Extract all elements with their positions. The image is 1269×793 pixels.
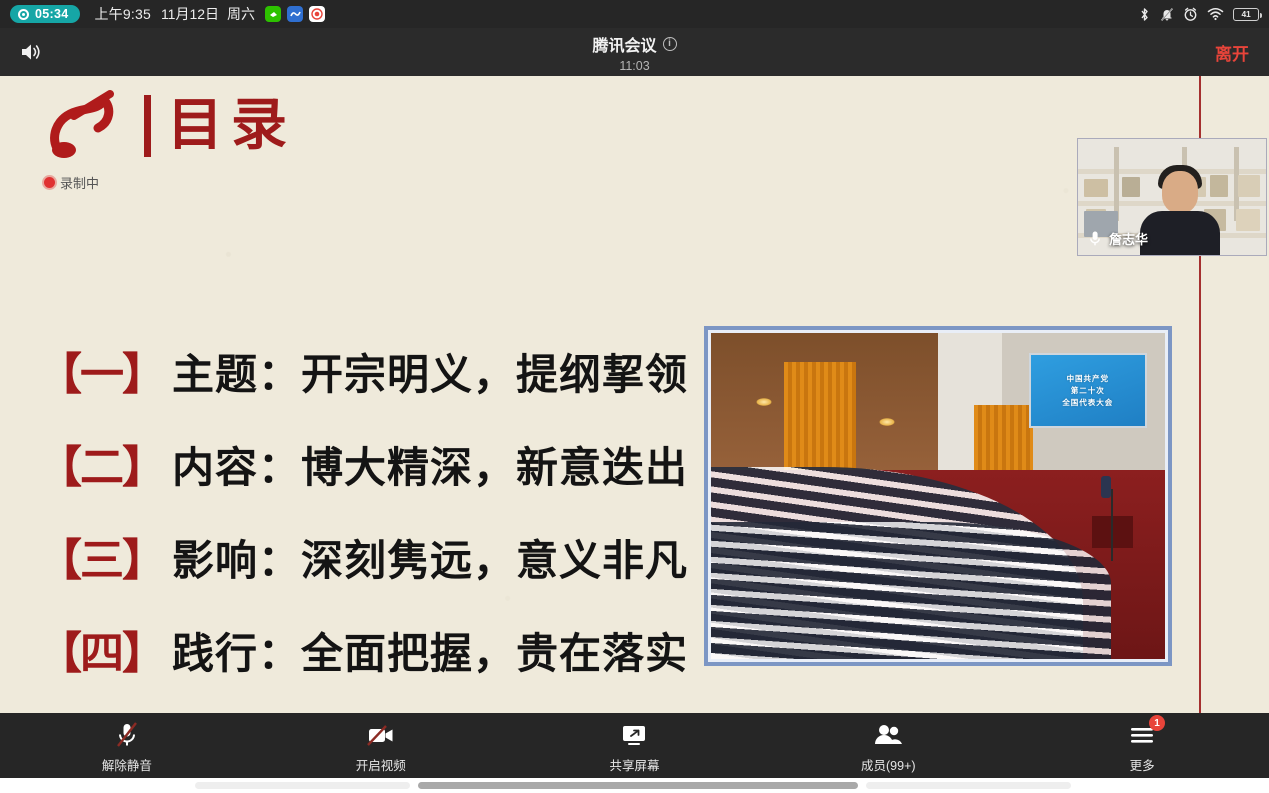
photo-tripod [1111, 489, 1113, 561]
status-weekday: 周六 [227, 4, 255, 24]
home-indicator-left[interactable] [195, 782, 410, 789]
photo-seating-front [711, 522, 1111, 659]
list-item: 【二】 内容：博大精深，新意迭出 [38, 431, 698, 495]
recording-badge: 录制中 [44, 173, 99, 192]
photo-sconce [879, 418, 895, 426]
item-marker: 【二】 [38, 431, 164, 495]
recording-label: 录制中 [60, 173, 99, 192]
toolbar-label: 成员(99+) [861, 755, 916, 774]
participant-name-row: 詹志华 [1086, 229, 1148, 248]
microphone-icon [1086, 230, 1104, 248]
item-marker: 【三】 [38, 524, 164, 588]
cpc-emblem-icon [40, 86, 128, 166]
item-marker: 【一】 [38, 338, 164, 402]
photo-led-screen: 中国共产党 第二十次 全国代表大会 [1029, 353, 1147, 428]
meeting-title-row[interactable]: 腾讯会议 i [592, 32, 676, 56]
blue-app-icon [287, 6, 303, 22]
shelf-box [1238, 175, 1260, 197]
item-marker: 【四】 [38, 617, 164, 681]
toolbar-label: 解除静音 [102, 755, 152, 774]
screen-line: 全国代表大会 [1062, 397, 1113, 408]
screen-line: 中国共产党 [1067, 373, 1110, 384]
meeting-title: 腾讯会议 [592, 32, 656, 56]
shelf-box [1122, 177, 1140, 197]
battery-level: 41 [1241, 9, 1250, 19]
participant-head [1162, 171, 1198, 213]
item-text: 影响：深刻隽远，意义非凡 [172, 527, 688, 588]
status-system-icons: 41 [1138, 7, 1259, 22]
photo-podium [1092, 516, 1133, 549]
item-text: 主题：开宗明义，提纲挈领 [172, 341, 688, 402]
slide-header: 目录 [40, 86, 295, 166]
unmute-button[interactable]: 解除静音 [0, 717, 254, 774]
home-indicator-right[interactable] [866, 782, 1071, 789]
bell-muted-icon [1160, 7, 1174, 22]
start-video-button[interactable]: 开启视频 [254, 717, 508, 774]
leave-button[interactable]: 离开 [1209, 36, 1255, 69]
toolbar-label: 更多 [1130, 755, 1155, 774]
more-button[interactable]: 1 更多 [1015, 717, 1269, 774]
participant-body [1140, 211, 1220, 256]
meeting-header: 腾讯会议 i 11:03 离开 [0, 28, 1269, 76]
meeting-app-root: 05:34 上午9:35 11月12日 周六 [0, 0, 1269, 793]
photo-curtain [784, 362, 857, 470]
participants-icon [873, 721, 903, 749]
meeting-toolbar: 解除静音 开启视频 共享屏幕 [0, 713, 1269, 778]
list-item: 【三】 影响：深刻隽远，意义非凡 [38, 524, 698, 588]
wechat-icon [265, 6, 281, 22]
video-off-icon [366, 721, 396, 749]
status-time: 上午9:35 [94, 4, 150, 24]
alarm-icon [1183, 7, 1198, 22]
recording-timer: 05:34 [35, 7, 68, 21]
status-app-icons [265, 6, 325, 22]
list-item: 【四】 践行：全面把握，贵在落实 [38, 617, 698, 681]
item-text: 践行：全面把握，贵在落实 [172, 620, 688, 681]
meeting-duration: 11:03 [0, 59, 1269, 73]
title-divider [144, 95, 151, 157]
status-bar: 05:34 上午9:35 11月12日 周六 [0, 0, 1269, 28]
item-text: 内容：博大精深，新意迭出 [172, 434, 688, 495]
photo-person [1101, 476, 1111, 498]
photo-curtain-right [974, 405, 1033, 470]
slide-title: 目录 [167, 98, 295, 154]
bluetooth-icon [1138, 7, 1151, 22]
more-badge: 1 [1149, 715, 1165, 731]
screen-record-icon [309, 6, 325, 22]
slide-photo-frame: 中国共产党 第二十次 全国代表大会 [704, 326, 1172, 666]
toolbar-label: 共享屏幕 [609, 755, 659, 774]
share-screen-icon [620, 721, 648, 749]
status-date: 11月12日 [161, 4, 219, 24]
shelf-box [1236, 209, 1260, 231]
screen-line: 第二十次 [1071, 385, 1105, 396]
home-indicator-center[interactable] [418, 782, 858, 789]
shelf-box [1210, 175, 1228, 197]
congress-hall-photo: 中国共产党 第二十次 全国代表大会 [708, 330, 1168, 662]
wifi-icon [1207, 7, 1224, 21]
info-icon[interactable]: i [663, 37, 677, 51]
list-item: 【一】 主题：开宗明义，提纲挈领 [38, 338, 698, 402]
meeting-title-block: 腾讯会议 i 11:03 [0, 32, 1269, 73]
shelf-post [1114, 147, 1119, 221]
participant-video-tile[interactable]: 詹志华 [1077, 138, 1267, 256]
recording-dot-icon [44, 177, 55, 188]
battery-icon: 41 [1233, 8, 1259, 21]
home-indicator-bar [0, 778, 1269, 793]
speaker-icon[interactable] [14, 35, 48, 69]
screen-recording-pill[interactable]: 05:34 [10, 5, 80, 23]
mic-off-icon [114, 721, 140, 749]
more-icon: 1 [1128, 721, 1156, 749]
slide-content-list: 【一】 主题：开宗明义，提纲挈领 【二】 内容：博大精深，新意迭出 【三】 影响… [38, 338, 698, 710]
shelf-box [1084, 179, 1108, 197]
share-screen-button[interactable]: 共享屏幕 [508, 717, 762, 774]
toolbar-label: 开启视频 [356, 755, 406, 774]
participants-button[interactable]: 成员(99+) [761, 717, 1015, 774]
record-dot-icon [18, 9, 29, 20]
participant-name: 詹志华 [1109, 229, 1148, 248]
